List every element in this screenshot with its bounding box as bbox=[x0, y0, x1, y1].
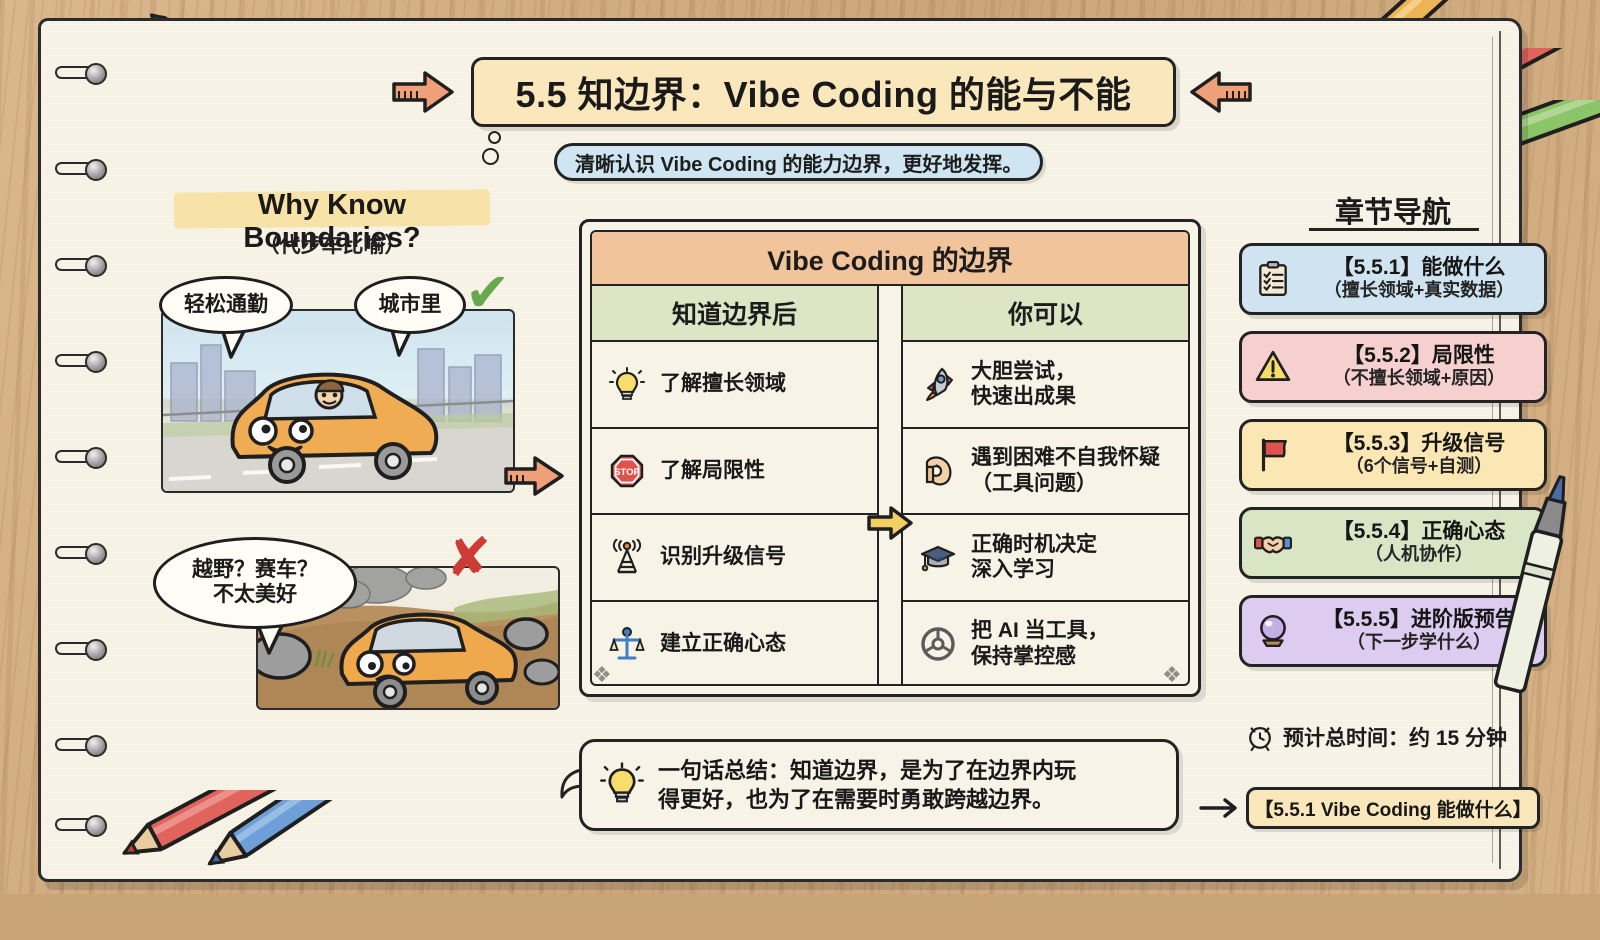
table-row: 大胆尝试， 快速出成果 bbox=[903, 342, 1188, 429]
bad-bubble-text: 越野？赛车？ 不太美好 bbox=[192, 558, 318, 608]
spiral-ring bbox=[55, 253, 111, 279]
sidebar-item-555-label: 【5.5.5】进阶版预告 bbox=[1322, 608, 1516, 631]
happy-car-city-scene bbox=[161, 309, 515, 493]
table-cell-text: 识别升级信号 bbox=[660, 544, 786, 570]
estimated-time-text: 预计总时间：约 15 分钟 bbox=[1283, 722, 1507, 752]
bubble-dot-medium bbox=[482, 148, 499, 165]
table-cell-text: 了解局限性 bbox=[660, 458, 765, 484]
table-column-header-right-text: 你可以 bbox=[1008, 295, 1083, 331]
table-cell-text: 建立正确心态 bbox=[660, 631, 786, 657]
antenna-signal-icon bbox=[606, 536, 648, 578]
table-cell-line1: 正确时机决定 bbox=[971, 533, 1097, 556]
sidebar-item-554-sublabel: （人机协作） bbox=[1365, 544, 1473, 564]
sidebar-item-555-sublabel: （下一步学什么） bbox=[1347, 632, 1491, 652]
estimated-time: 预计总时间：约 15 分钟 bbox=[1246, 721, 1546, 753]
sidebar-item-554-label: 【5.5.4】正确心态 bbox=[1333, 520, 1506, 543]
clipboard-checklist-icon bbox=[1252, 258, 1294, 300]
sidebar-item-551[interactable]: 【5.5.1】能做什么 （擅长领域+真实数据） bbox=[1239, 243, 1547, 315]
page-title: 5.5 知边界：Vibe Coding 的能与不能 bbox=[516, 66, 1132, 118]
table-cell-line1: 大胆尝试， bbox=[971, 360, 1076, 383]
next-section-label: 【5.5.1 Vibe Coding 能做什么】 bbox=[1254, 795, 1531, 822]
svg-text:STOP: STOP bbox=[614, 467, 640, 478]
sidebar-item-553-body: 【5.5.3】升级信号 （6个信号+自测） bbox=[1302, 432, 1536, 478]
table-column-divider bbox=[877, 286, 903, 686]
summary-text: 一句话总结：知道边界，是为了在边界内玩 得更好，也为了在需要时勇敢跨越边界。 bbox=[658, 756, 1076, 815]
graduation-cap-icon bbox=[917, 536, 959, 578]
table-right-column: 你可以 大胆尝试， bbox=[903, 286, 1188, 686]
good-bubble-2-text: 城市里 bbox=[379, 293, 442, 318]
flexed-biceps-icon bbox=[917, 450, 959, 492]
scales-balance-icon bbox=[606, 623, 648, 665]
boundaries-table: ❖ ❖ ❖ ❖ Vibe Coding 的边界 知道边界后 bbox=[579, 219, 1201, 697]
notebook-page: 5.5 知边界：Vibe Coding 的能与不能 清晰认识 Vibe Codi… bbox=[38, 18, 1522, 882]
spiral-ring bbox=[55, 61, 111, 87]
arrow-right-icon bbox=[866, 504, 914, 542]
blue-pencil-bottom bbox=[205, 800, 505, 940]
bad-bubble-line2: 不太美好 bbox=[213, 583, 297, 606]
table-row: 正确时机决定 深入学习 bbox=[903, 515, 1188, 602]
check-mark-icon: ✔ bbox=[465, 261, 510, 324]
sidebar-item-552-label: 【5.5.2】局限性 bbox=[1343, 344, 1495, 367]
page-title-box: 5.5 知边界：Vibe Coding 的能与不能 bbox=[471, 57, 1176, 127]
table-cell-text: 把 AI 当工具， 保持掌控感 bbox=[971, 618, 1109, 669]
table-cell-line2: 深入学习 bbox=[971, 558, 1055, 581]
arrow-left-icon bbox=[1189, 69, 1253, 115]
red-flag-icon bbox=[1252, 434, 1294, 476]
arrow-right-icon bbox=[1199, 796, 1241, 820]
table-cell-text: 大胆尝试， 快速出成果 bbox=[971, 359, 1076, 410]
nav-title-underline bbox=[1309, 228, 1479, 231]
table-cell-line2: 保持掌控感 bbox=[971, 645, 1076, 668]
sidebar-item-554-body: 【5.5.4】正确心态 （人机协作） bbox=[1302, 520, 1536, 566]
sidebar-item-553-label: 【5.5.3】升级信号 bbox=[1333, 432, 1506, 455]
table-column-header-right: 你可以 bbox=[903, 286, 1188, 342]
sidebar-item-551-label: 【5.5.1】能做什么 bbox=[1333, 256, 1506, 279]
table-cell-text: 正确时机决定 深入学习 bbox=[971, 532, 1097, 583]
good-bubble-1: 轻松通勤 bbox=[159, 276, 293, 334]
table-column-header-left-text: 知道边界后 bbox=[672, 295, 797, 331]
spiral-ring bbox=[55, 813, 111, 839]
next-section-link[interactable]: 【5.5.1 Vibe Coding 能做什么】 bbox=[1246, 787, 1540, 829]
table-header: Vibe Coding 的边界 bbox=[592, 232, 1188, 286]
why-know-boundaries-subtitle: （代步车比喻） bbox=[174, 229, 490, 259]
table-cell-line2: （工具问题） bbox=[971, 472, 1097, 495]
steering-wheel-icon bbox=[917, 623, 959, 665]
table-row: 了解擅长领域 bbox=[592, 342, 877, 429]
table-cell-text: 了解擅长领域 bbox=[660, 371, 786, 397]
page-subtitle-bubble: 清晰认识 Vibe Coding 的能力边界，更好地发挥。 bbox=[554, 143, 1043, 181]
sidebar-item-553[interactable]: 【5.5.3】升级信号 （6个信号+自测） bbox=[1239, 419, 1547, 491]
spiral-ring bbox=[55, 733, 111, 759]
spiral-ring bbox=[55, 541, 111, 567]
good-bubble-2: 城市里 bbox=[354, 276, 466, 334]
spiral-ring bbox=[55, 157, 111, 183]
sidebar-item-551-body: 【5.5.1】能做什么 （擅长领域+真实数据） bbox=[1302, 256, 1536, 302]
lightbulb-icon bbox=[600, 761, 644, 810]
sidebar-item-553-sublabel: （6个信号+自测） bbox=[1346, 456, 1493, 476]
summary-bubble: 一句话总结：知道边界，是为了在边界内玩 得更好，也为了在需要时勇敢跨越边界。 bbox=[579, 739, 1179, 831]
summary-line1: 一句话总结：知道边界，是为了在边界内玩 bbox=[658, 758, 1076, 783]
page-subtitle: 清晰认识 Vibe Coding 的能力边界，更好地发挥。 bbox=[575, 148, 1022, 177]
rocket-icon bbox=[917, 363, 959, 405]
sidebar-item-552-sublabel: （不擅长领域+原因） bbox=[1333, 368, 1506, 388]
crystal-ball-icon bbox=[1252, 610, 1294, 652]
warning-triangle-icon bbox=[1252, 346, 1294, 388]
table-left-column: 知道边界后 bbox=[592, 286, 877, 686]
spiral-binding bbox=[55, 61, 115, 861]
nav-title: 章节导航 bbox=[1239, 189, 1547, 231]
sidebar-item-551-sublabel: （擅长领域+真实数据） bbox=[1324, 280, 1515, 300]
table-cell-line1: 遇到困难不自我怀疑 bbox=[971, 446, 1160, 469]
table-cell-text: 遇到困难不自我怀疑 （工具问题） bbox=[971, 445, 1160, 496]
table-row: STOP 了解局限性 bbox=[592, 429, 877, 516]
lightbulb-icon bbox=[606, 363, 648, 405]
sidebar-item-554[interactable]: 【5.5.4】正确心态 （人机协作） bbox=[1239, 507, 1547, 579]
table-row: 遇到困难不自我怀疑 （工具问题） bbox=[903, 429, 1188, 516]
bad-bubble-line1: 越野？赛车？ bbox=[192, 558, 318, 581]
sidebar-item-552-body: 【5.5.2】局限性 （不擅长领域+原因） bbox=[1302, 344, 1536, 390]
table-cell-line1: 把 AI 当工具， bbox=[971, 619, 1109, 642]
spiral-ring bbox=[55, 445, 111, 471]
table-row: 识别升级信号 bbox=[592, 515, 877, 602]
arrow-right-icon bbox=[503, 453, 565, 499]
arrow-right-icon bbox=[391, 69, 455, 115]
table-column-header-left: 知道边界后 bbox=[592, 286, 877, 342]
table-cell-line2: 快速出成果 bbox=[971, 385, 1076, 408]
sidebar-item-552[interactable]: 【5.5.2】局限性 （不擅长领域+原因） bbox=[1239, 331, 1547, 403]
table-row: 把 AI 当工具， 保持掌控感 bbox=[903, 602, 1188, 687]
table-header-text: Vibe Coding 的边界 bbox=[767, 239, 1013, 278]
summary-line2: 得更好，也为了在需要时勇敢跨越边界。 bbox=[658, 787, 1054, 812]
good-bubble-1-text: 轻松通勤 bbox=[184, 293, 268, 318]
handshake-icon bbox=[1252, 522, 1294, 564]
table-row: 建立正确心态 bbox=[592, 602, 877, 687]
spiral-ring bbox=[55, 637, 111, 663]
spiral-ring bbox=[55, 349, 111, 375]
bubble-dot-small bbox=[488, 131, 501, 144]
stop-sign-icon: STOP bbox=[606, 450, 648, 492]
cross-mark-icon: ✘ bbox=[446, 526, 491, 589]
bad-bubble: 越野？赛车？ 不太美好 bbox=[153, 537, 357, 629]
alarm-clock-icon bbox=[1246, 723, 1274, 751]
